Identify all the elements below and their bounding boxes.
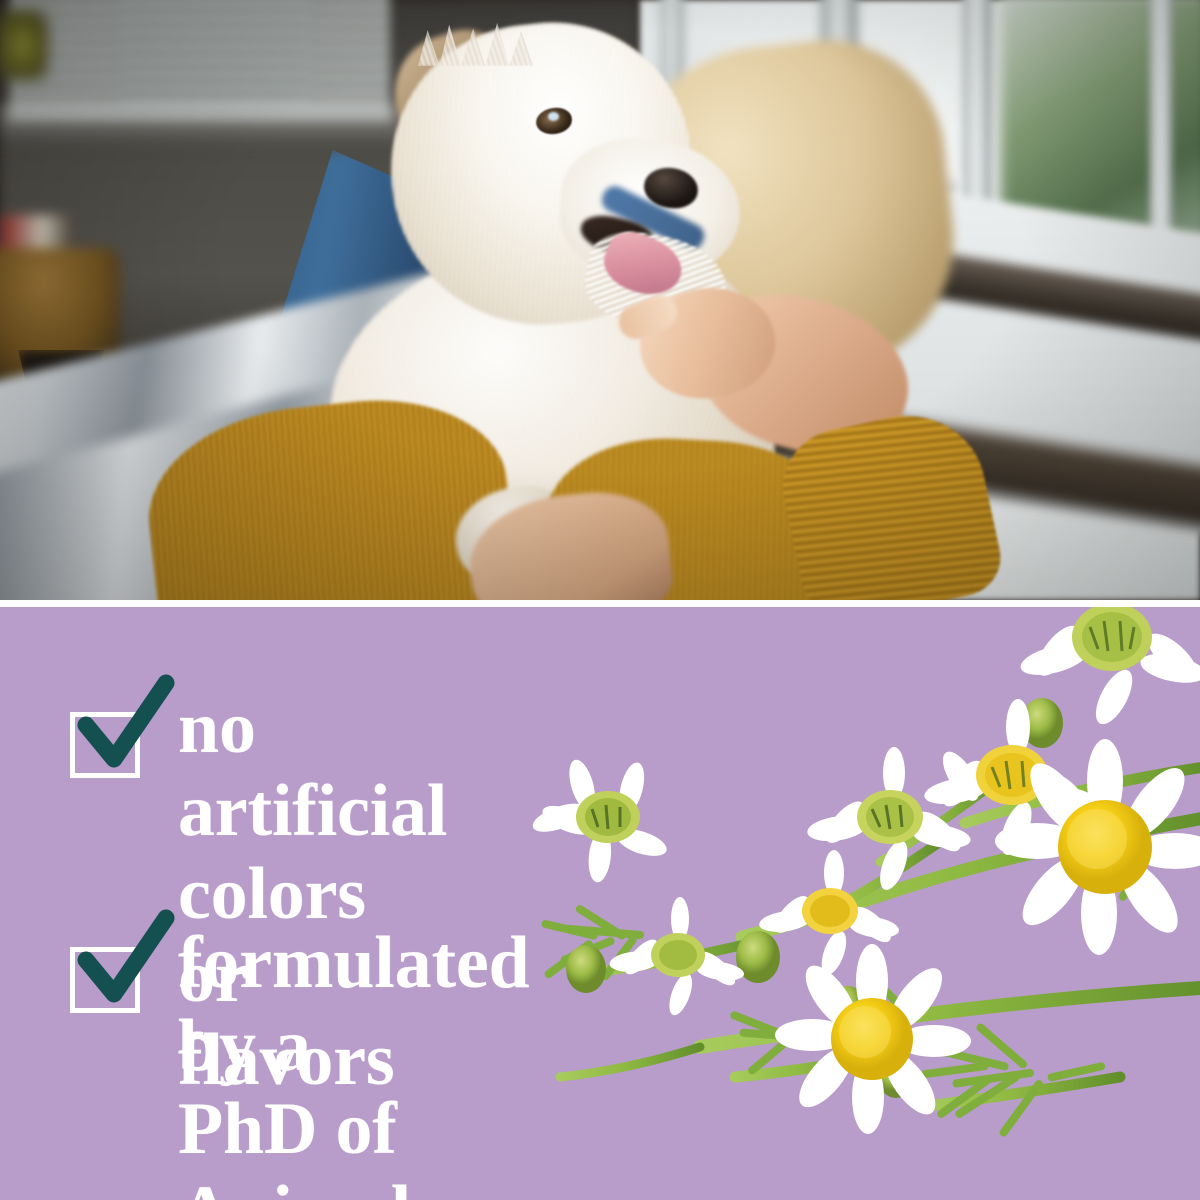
checkmark-icon [84,679,170,779]
claims-list: no artificial colors or flavors formulat… [0,607,1200,1200]
checkmark-icon [84,914,170,1014]
photo-vignette [0,0,1200,600]
claim-label: formulated by a PhD of Animal Nutrition [178,922,530,1200]
product-feature-card: no artificial colors or flavors formulat… [0,0,1200,1200]
panel-divider [0,600,1200,607]
lifestyle-photo [0,0,1200,600]
claims-panel: no artificial colors or flavors formulat… [0,607,1200,1200]
